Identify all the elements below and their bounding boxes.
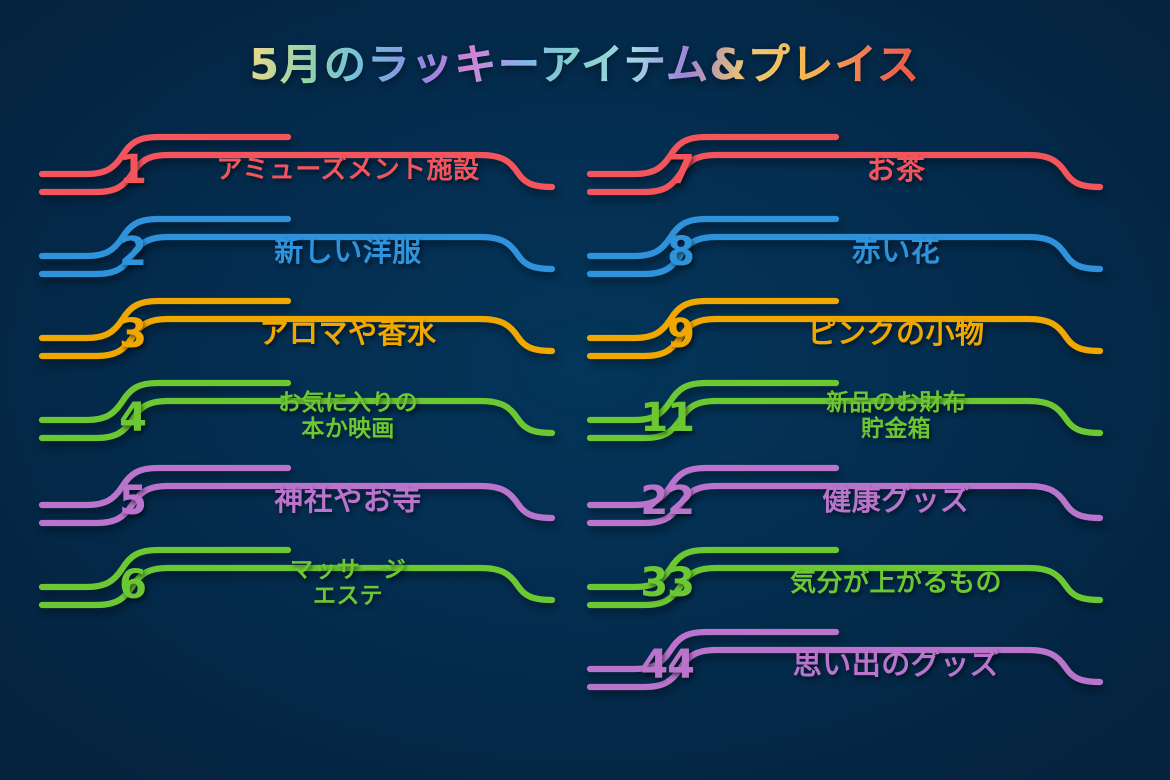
lucky-item-label: アミューズメント施設 xyxy=(170,156,526,184)
lucky-item-number: 22 xyxy=(588,481,698,521)
title-container: 5月のラッキーアイテム&プレイス xyxy=(0,42,1170,88)
lucky-item-row[interactable]: 9ピンクの小物 xyxy=(588,294,1108,376)
lucky-list-column-right: 7お茶8赤い花9ピンクの小物11新品のお財布 貯金箱22健康グッズ33気分が上が… xyxy=(588,130,1108,707)
lucky-item-row[interactable]: 33気分が上がるもの xyxy=(588,543,1108,625)
lucky-item-number: 44 xyxy=(588,645,698,685)
lucky-item-label: 健康グッズ xyxy=(718,485,1074,516)
lucky-item-row[interactable]: 11新品のお財布 貯金箱 xyxy=(588,376,1108,461)
page-title: 5月のラッキーアイテム&プレイス xyxy=(250,42,921,88)
lucky-item-number: 2 xyxy=(40,232,150,272)
lucky-item-label: お気に入りの 本か映画 xyxy=(170,390,526,443)
lucky-item-number: 6 xyxy=(40,565,150,605)
lucky-list-column-left: 1アミューズメント施設2新しい洋服3アロマや香水4お気に入りの 本か映画5神社や… xyxy=(40,130,560,628)
lucky-item-number: 1 xyxy=(40,150,150,190)
lucky-item-row[interactable]: 7お茶 xyxy=(588,130,1108,212)
lucky-item-label: 思い出のグッズ xyxy=(718,649,1074,680)
lucky-item-number: 7 xyxy=(588,150,698,190)
poster-canvas: 5月のラッキーアイテム&プレイス 1アミューズメント施設2新しい洋服3アロマや香… xyxy=(0,0,1170,780)
lucky-item-label: 赤い花 xyxy=(718,236,1074,267)
lucky-item-number: 33 xyxy=(588,563,698,603)
lucky-item-label: マッサージ エステ xyxy=(170,557,526,610)
lucky-item-row[interactable]: 1アミューズメント施設 xyxy=(40,130,560,212)
lucky-item-number: 4 xyxy=(40,398,150,438)
lucky-item-label: アロマや香水 xyxy=(170,318,526,349)
lucky-item-row[interactable]: 5神社やお寺 xyxy=(40,461,560,543)
lucky-item-row[interactable]: 3アロマや香水 xyxy=(40,294,560,376)
lucky-item-number: 8 xyxy=(588,232,698,272)
lucky-item-row[interactable]: 2新しい洋服 xyxy=(40,212,560,294)
lucky-item-row[interactable]: 44思い出のグッズ xyxy=(588,625,1108,707)
lucky-item-row[interactable]: 4お気に入りの 本か映画 xyxy=(40,376,560,461)
lucky-item-label: ピンクの小物 xyxy=(718,318,1074,349)
lucky-item-label: 気分が上がるもの xyxy=(718,569,1074,597)
lucky-item-row[interactable]: 6マッサージ エステ xyxy=(40,543,560,628)
lucky-item-number: 11 xyxy=(588,398,698,438)
lucky-item-row[interactable]: 22健康グッズ xyxy=(588,461,1108,543)
lucky-item-label: 神社やお寺 xyxy=(170,485,526,516)
lucky-item-label: お茶 xyxy=(718,154,1074,185)
lucky-item-row[interactable]: 8赤い花 xyxy=(588,212,1108,294)
lucky-item-number: 3 xyxy=(40,314,150,354)
lucky-item-number: 5 xyxy=(40,481,150,521)
lucky-item-label: 新しい洋服 xyxy=(170,236,526,267)
lucky-item-number: 9 xyxy=(588,314,698,354)
lucky-item-label: 新品のお財布 貯金箱 xyxy=(718,390,1074,443)
